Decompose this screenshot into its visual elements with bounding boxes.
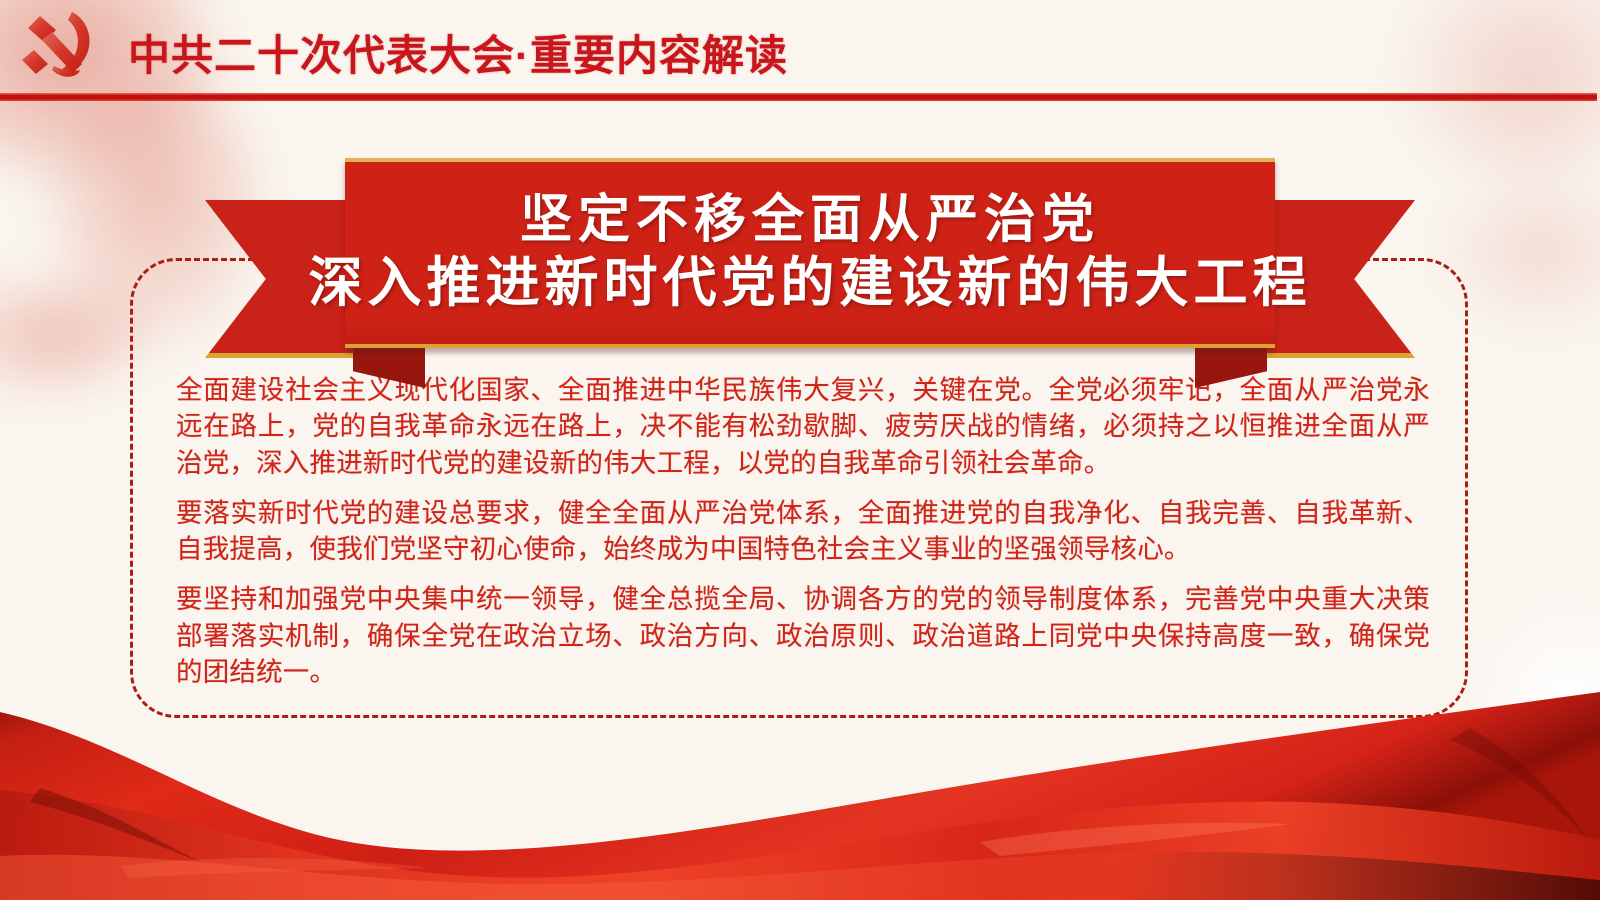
- ribbon-banner: 坚定不移全面从严治党 深入推进新时代党的建设新的伟大工程: [205, 158, 1415, 358]
- slide-root: 中共二十次代表大会·重要内容解读 坚定不移全面从严治党 深入推进新时代党的建设新…: [0, 0, 1600, 900]
- watercolor-splash-lower-left: [0, 270, 150, 400]
- content-body: 全面建设社会主义现代化国家、全面推进中华民族伟大复兴，关键在党。全党必须牢记，全…: [176, 372, 1430, 690]
- ribbon-body: 坚定不移全面从严治党 深入推进新时代党的建设新的伟大工程: [345, 158, 1275, 348]
- red-silk-wave-decoration: [0, 670, 1600, 900]
- paragraph-1: 全面建设社会主义现代化国家、全面推进中华民族伟大复兴，关键在党。全党必须牢记，全…: [176, 372, 1430, 481]
- hammer-and-sickle-icon: [8, 4, 108, 88]
- page-header: 中共二十次代表大会·重要内容解读: [0, 0, 1600, 100]
- banner-heading-line-1: 坚定不移全面从严治党: [520, 190, 1100, 251]
- banner-heading-line-2: 深入推进新时代党的建设新的伟大工程: [309, 252, 1312, 316]
- page-title: 中共二十次代表大会·重要内容解读: [128, 22, 788, 83]
- paragraph-2: 要落实新时代党的建设总要求，健全全面从严治党体系，全面推进党的自我净化、自我完善…: [176, 495, 1430, 568]
- header-divider: [0, 93, 1597, 101]
